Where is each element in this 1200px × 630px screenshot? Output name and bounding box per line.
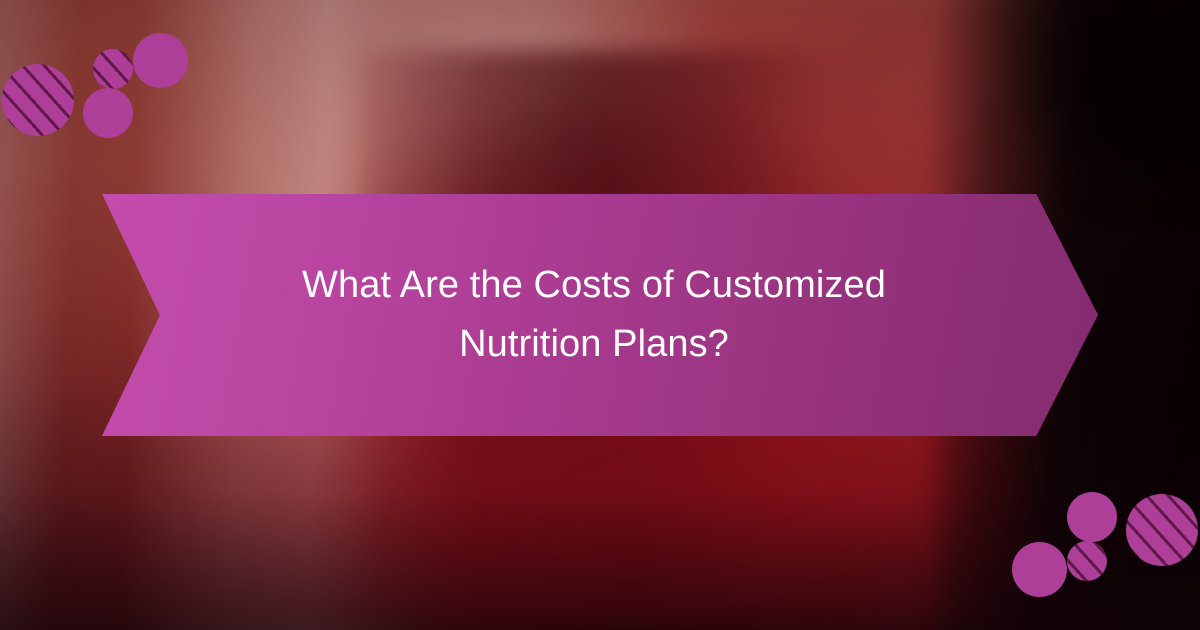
decorative-circle-top-left-large-striped: [2, 64, 74, 136]
decorative-circle-top-left-large-plain: [133, 33, 188, 88]
decorative-circle-bottom-right-small-striped: [1067, 541, 1107, 581]
decorative-circle-bottom-right-large-striped: [1126, 494, 1198, 566]
title-banner: What Are the Costs of Customized Nutriti…: [102, 194, 1098, 436]
hero-card: What Are the Costs of Customized Nutriti…: [0, 0, 1200, 630]
decorative-circle-bottom-right-small-plain: [1067, 492, 1117, 542]
decorative-circle-top-left-small-striped: [93, 49, 133, 89]
page-title: What Are the Costs of Customized Nutriti…: [244, 256, 944, 373]
decorative-circle-bottom-right-large-plain: [1012, 542, 1067, 597]
decorative-circle-top-left-small-plain: [83, 88, 133, 138]
